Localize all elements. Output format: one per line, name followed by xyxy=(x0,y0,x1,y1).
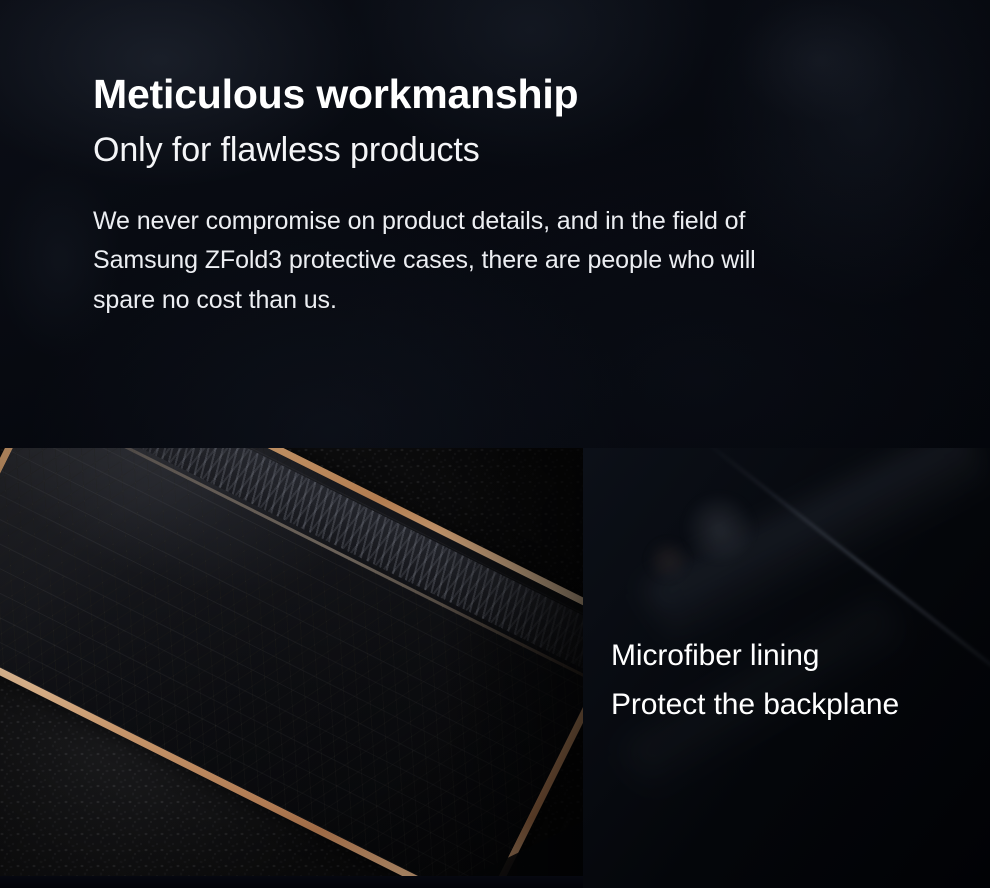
feature-caption-line-2: Protect the backplane xyxy=(611,681,899,730)
page-title: Meticulous workmanship xyxy=(93,70,973,118)
hero-description: We never compromise on product details, … xyxy=(93,202,973,321)
hero-description-line-3: spare no cost than us. xyxy=(93,281,973,321)
hero-copy-block: Meticulous workmanship Only for flawless… xyxy=(93,70,973,320)
hero-description-line-2: Samsung ZFold3 protective cases, there a… xyxy=(93,241,973,281)
panel-bokeh-large xyxy=(679,496,759,560)
product-photo xyxy=(0,448,583,876)
hero-section: Meticulous workmanship Only for flawless… xyxy=(0,0,990,449)
hero-description-line-1: We never compromise on product details, … xyxy=(93,202,973,242)
promo-page: Meticulous workmanship Only for flawless… xyxy=(0,0,990,888)
panel-bokeh-small xyxy=(645,540,691,580)
feature-caption-panel: Microfiber lining Protect the backplane xyxy=(583,448,990,888)
photo-bottom-edge xyxy=(0,876,583,888)
feature-caption: Microfiber lining Protect the backplane xyxy=(611,632,899,729)
page-subtitle: Only for flawless products xyxy=(93,129,973,173)
feature-caption-line-1: Microfiber lining xyxy=(611,632,899,681)
